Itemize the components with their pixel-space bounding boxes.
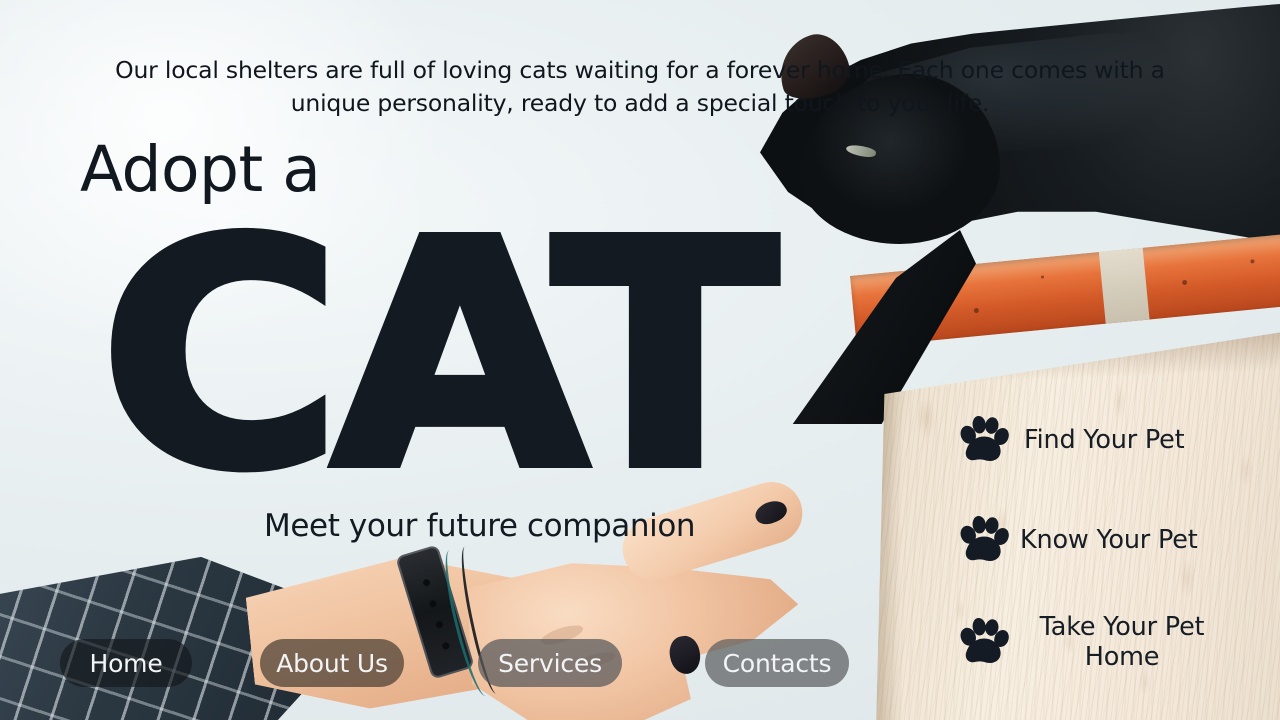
- brick-speck: [1250, 259, 1254, 263]
- paw-print-icon: [956, 614, 1012, 670]
- feature-label: Know Your Pet: [1020, 525, 1198, 555]
- feature-list: Find Your Pet Know Your Pet: [956, 412, 1256, 716]
- feature-label: Find Your Pet: [1024, 425, 1184, 455]
- brick-speck: [974, 308, 979, 313]
- hero-poster: Our local shelters are full of loving ca…: [0, 0, 1280, 720]
- feature-item-know-your-pet[interactable]: Know Your Pet: [956, 512, 1256, 568]
- paw-print-icon: [956, 512, 1012, 568]
- brick-speck: [1041, 275, 1044, 278]
- nav-item-services[interactable]: Services: [478, 639, 622, 687]
- nav-item-home[interactable]: Home: [60, 639, 192, 687]
- feature-item-take-your-pet-home[interactable]: Take Your Pet Home: [956, 612, 1256, 672]
- brick-speck: [1182, 280, 1187, 285]
- watch-strap-hole: [435, 620, 444, 629]
- intro-paragraph: Our local shelters are full of loving ca…: [88, 54, 1192, 120]
- main-navigation: Home About Us Services Contacts: [60, 639, 860, 689]
- paw-print-icon: [956, 412, 1012, 468]
- nav-item-about-us[interactable]: About Us: [260, 639, 404, 687]
- watch-strap-hole: [422, 578, 431, 587]
- feature-label: Take Your Pet Home: [1022, 612, 1222, 672]
- tagline: Meet your future companion: [264, 508, 695, 544]
- watch-strap-hole: [429, 599, 438, 608]
- page-title: CAT: [100, 202, 769, 512]
- brick-mortar: [1099, 248, 1150, 324]
- nav-item-contacts[interactable]: Contacts: [705, 639, 849, 687]
- feature-item-find-your-pet[interactable]: Find Your Pet: [956, 412, 1256, 468]
